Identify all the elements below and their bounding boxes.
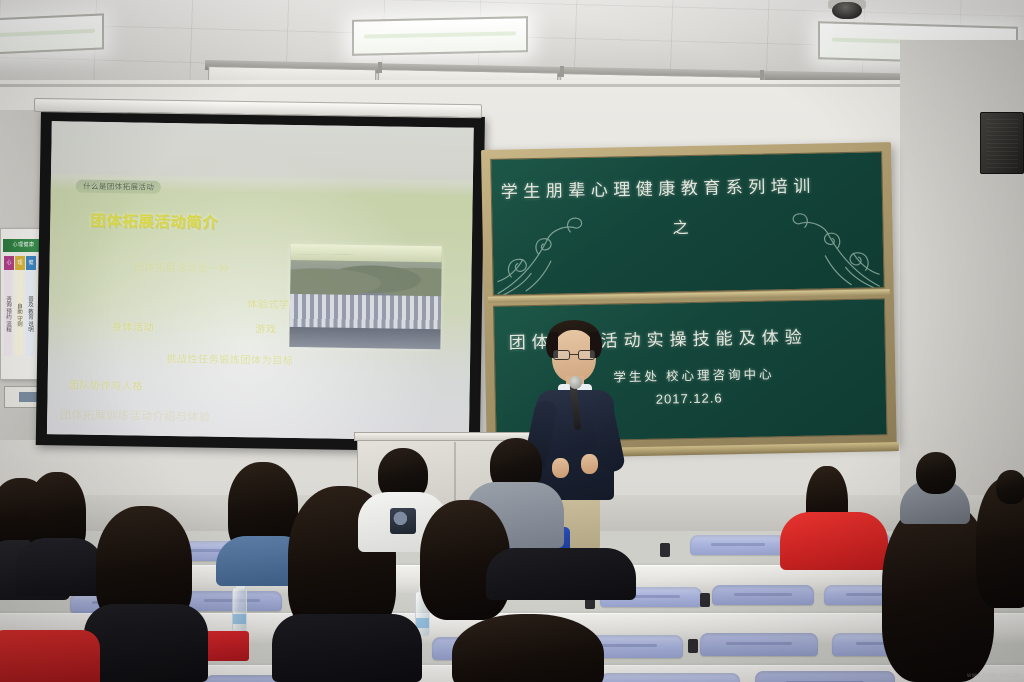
- glasses-lens-left: [553, 350, 570, 360]
- slide-bullet: 团队协作与人格: [69, 377, 143, 393]
- classroom-scene: 心理健康 心 咨询 预约 流程 理 自助 守则 健 普及 教育 说明 什么是团体…: [0, 0, 1024, 682]
- red-folder[interactable]: [205, 631, 249, 661]
- poster-column-body: 自助 守则: [15, 270, 23, 356]
- seat[interactable]: [700, 633, 818, 656]
- chalk-vine-decoration-left: [494, 209, 636, 296]
- seat[interactable]: [690, 535, 786, 555]
- smoke-detector-icon: [832, 2, 862, 19]
- blackboard-upper-panel: 学生朋辈心理健康教育系列培训 之: [490, 151, 885, 296]
- photo-trees: [290, 254, 443, 296]
- seat-divider: [700, 593, 710, 607]
- seat[interactable]: [170, 541, 262, 561]
- seat[interactable]: [755, 671, 895, 682]
- poster-column-1: 心 咨询 预约 流程: [4, 256, 14, 356]
- slide-bullet: 游戏: [255, 320, 276, 335]
- wall-speaker-icon: [980, 112, 1024, 174]
- seat[interactable]: [900, 533, 990, 553]
- slide-bullet-faint: 团体拓展训练活动介绍与体验: [60, 406, 211, 424]
- seat[interactable]: [824, 585, 922, 605]
- seat[interactable]: [432, 637, 550, 660]
- blue-jacket: [12, 581, 68, 599]
- seat[interactable]: [50, 677, 190, 682]
- blackboard-date: 2017.12.6: [656, 390, 723, 406]
- wall-ceiling-seam: [0, 84, 1024, 87]
- poster-column-3: 健 普及 教育 说明: [26, 256, 36, 356]
- right-wall: [900, 40, 1024, 510]
- watermark: www.hnas.edu.cn: [967, 673, 1020, 679]
- projection-screen: 什么是团体拓展活动 团体拓展活动简介 团体拓展活动是一种 体验式学习 身体活动 …: [36, 110, 485, 452]
- chalk-vine-decoration-right: [740, 204, 882, 292]
- poster-column-cap: 心: [4, 256, 14, 270]
- poster-column-cap: 健: [26, 256, 36, 270]
- seat[interactable]: [600, 587, 702, 607]
- photo-ground: [289, 326, 441, 349]
- blue-jacket: [470, 527, 570, 553]
- seat[interactable]: [832, 633, 942, 656]
- bottle-label: [233, 614, 246, 624]
- audience-seating: [0, 505, 1024, 682]
- bottle-cap: [236, 582, 245, 589]
- glasses-bridge: [570, 354, 578, 355]
- poster-column-body: 普及 教育 说明: [26, 270, 34, 356]
- poster-column-cap: 理: [15, 256, 25, 270]
- projection-screen-surface: 什么是团体拓展活动 团体拓展活动简介 团体拓展活动是一种 体验式学习 身体活动 …: [47, 121, 474, 441]
- presenter-hand-left: [552, 458, 569, 478]
- poster-column-2: 理 自助 守则: [15, 256, 25, 356]
- ceiling-light-left: [0, 13, 104, 54]
- blackboard-organizers: 学生处 校心理咨询中心: [613, 363, 774, 385]
- seat-divider: [660, 543, 670, 557]
- seat-divider: [553, 641, 563, 655]
- seat[interactable]: [276, 541, 368, 561]
- water-bottle[interactable]: [232, 587, 247, 633]
- slide-bullet: 团体拓展活动是一种: [134, 259, 230, 275]
- seat[interactable]: [300, 637, 418, 660]
- presentation-slide: 什么是团体拓展活动 团体拓展活动简介 团体拓展活动是一种 体验式学习 身体活动 …: [47, 121, 474, 441]
- seat[interactable]: [795, 533, 891, 553]
- bottle-label: [416, 618, 429, 628]
- bottle-cap: [419, 586, 428, 593]
- seat[interactable]: [205, 675, 345, 682]
- water-bottle[interactable]: [415, 591, 430, 637]
- slide-bullet: 身体活动: [112, 318, 155, 334]
- glasses-lens-right: [578, 350, 595, 360]
- seat[interactable]: [70, 593, 170, 613]
- slide-title: 团体拓展活动简介: [90, 209, 218, 232]
- seat-divider: [784, 543, 794, 557]
- seat-divider: [688, 639, 698, 653]
- blackboard-title-line: 学生朋辈心理健康教育系列培训: [501, 172, 816, 203]
- glasses-icon: [553, 350, 595, 360]
- presenter-hand-right: [581, 454, 598, 474]
- blackboard-subtitle-char: 之: [672, 214, 688, 238]
- slide-bullet: 挑战性任务锻炼团体为目标: [166, 350, 293, 367]
- slide-photo: [289, 244, 443, 350]
- seat[interactable]: [712, 585, 814, 605]
- photo-crowd: [289, 293, 441, 330]
- seat[interactable]: [600, 673, 740, 682]
- slide-section-tag: 什么是团体拓展活动: [76, 179, 161, 193]
- seat[interactable]: [565, 635, 683, 658]
- poster-column-body: 咨询 预约 流程: [4, 270, 12, 356]
- seat-divider: [585, 595, 595, 609]
- rail-stem: [560, 66, 564, 77]
- rail-stem: [378, 62, 382, 73]
- ceiling-light-center: [352, 16, 528, 56]
- microphone-head: [569, 376, 582, 389]
